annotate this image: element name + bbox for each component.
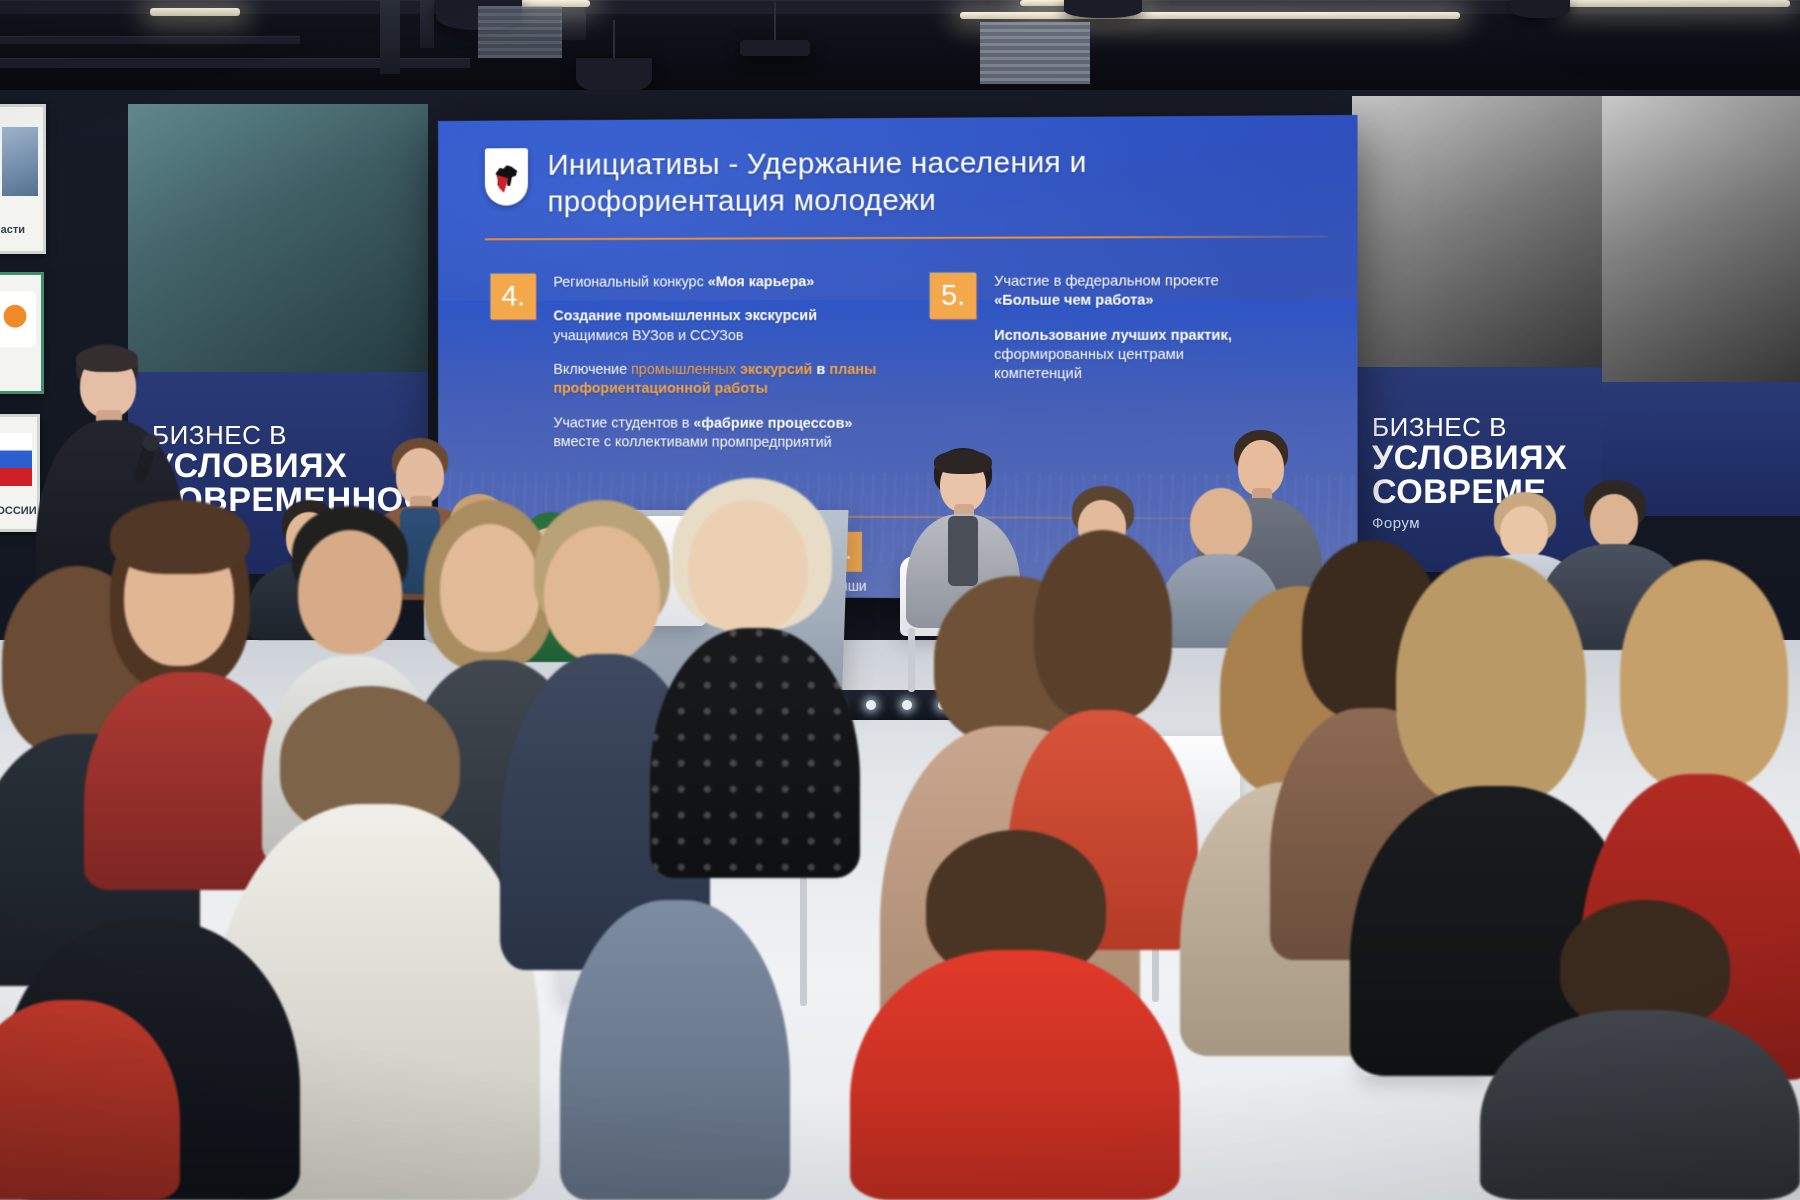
poster-image <box>2 127 39 196</box>
screenshot-root: асти РОССИИ БИЗНЕС В УСЛОВИЯХ СОВРЕМЕННО… <box>0 0 1800 1200</box>
audience-torso <box>0 1000 180 1200</box>
column-4-paragraph-2: Создание промышленных экскурсий учащимис… <box>553 307 878 346</box>
column-number-4: 4. <box>491 274 536 320</box>
run-text: учащимися ВУЗов и ССУЗов <box>553 328 743 344</box>
audience-torso <box>1480 1010 1800 1200</box>
audience-torso <box>850 950 1180 1200</box>
pendant-lamp <box>1510 0 1570 18</box>
audience-member-front <box>1480 900 1800 1200</box>
audience-head-bald <box>1190 488 1252 558</box>
floor-light-dot <box>866 700 876 710</box>
poster-caption: РОССИИ <box>0 505 33 518</box>
banner-far-right <box>1602 96 1800 516</box>
audience-member-front <box>650 478 860 878</box>
run-text: Участие в федеральном проекте <box>994 273 1219 290</box>
audience-hair <box>1620 560 1788 790</box>
pendant-lamp <box>1064 0 1142 18</box>
ceiling-light <box>960 12 1460 19</box>
audience-head <box>1590 494 1638 548</box>
slide-title-line1: Инициативы - Удержание населения и <box>548 145 1087 184</box>
column-5-paragraph-2: Использование лучших практик, сформирова… <box>994 326 1263 384</box>
slide-header: Инициативы - Удержание населения и профо… <box>485 144 1317 221</box>
audience-member-front <box>0 1000 180 1200</box>
panelist-hair-front <box>934 450 992 474</box>
pendant-lamp <box>576 58 652 94</box>
slide-columns: 4. Региональный конкурс «Моя карьера» Со… <box>485 272 1317 454</box>
ceiling-light <box>1560 0 1790 7</box>
slide-content: Инициативы - Удержание населения и профо… <box>438 115 1357 454</box>
run-text: Включение <box>553 362 631 378</box>
audience-hair <box>1396 556 1586 806</box>
run-text: Использование лучших практик, <box>994 327 1232 343</box>
slide-column-4: 4. Региональный конкурс «Моя карьера» Со… <box>491 273 878 453</box>
run-text: промышленных <box>631 362 740 378</box>
column-4-paragraph-1: Региональный конкурс «Моя карьера» <box>553 273 878 293</box>
slide-title-line2: профориентация молодежи <box>548 182 1087 221</box>
audience-hair <box>1034 530 1172 720</box>
column-4-body: Региональный конкурс «Моя карьера» Созда… <box>553 273 878 453</box>
run-text: экскурсий <box>740 362 813 378</box>
run-text: Региональный конкурс <box>553 275 707 291</box>
banner-right-line2: УСЛОВИЯХ <box>1372 441 1592 476</box>
column-number-5: 5. <box>930 273 976 319</box>
run-text: в <box>813 362 830 378</box>
ceiling-duct <box>380 0 400 74</box>
audience-head <box>298 530 402 654</box>
column-5-paragraph-1: Участие в федеральном проекте «Больше че… <box>994 272 1263 311</box>
poster-image <box>0 433 32 487</box>
audience-torso <box>560 900 790 1200</box>
slide-title: Инициативы - Удержание населения и профо… <box>548 145 1087 221</box>
speaker-hair-front <box>76 346 138 372</box>
run-text: «Больше чем работа» <box>994 293 1153 309</box>
banner-right-line1: БИЗНЕС В <box>1372 414 1592 441</box>
audience-head <box>544 526 660 662</box>
column-5-body: Участие в федеральном проекте «Больше че… <box>994 272 1263 454</box>
banner-left-photo <box>128 104 428 372</box>
coat-of-arms-icon <box>485 148 528 206</box>
run-text: Создание промышленных экскурсий <box>553 309 817 325</box>
audience-member-front <box>560 900 790 1200</box>
ceiling-beam <box>0 36 300 44</box>
window-blinds <box>980 22 1090 84</box>
banner-right-photo <box>1352 96 1602 367</box>
poster-image <box>0 291 36 347</box>
run-text: сформированных центрами компетенций <box>994 347 1184 382</box>
window-blinds <box>478 6 562 58</box>
pendant-lamp <box>740 40 810 56</box>
run-text: вместе с коллективами промпредприятий <box>553 434 831 451</box>
title-divider <box>485 236 1328 241</box>
audience-member-front <box>850 830 1180 1200</box>
column-4-paragraph-4: Участие студентов в «фабрике процессов» … <box>553 414 878 453</box>
column-4-paragraph-3: Включение промышленных экскурсий в планы… <box>553 361 878 400</box>
run-text: Участие студентов в <box>553 415 693 431</box>
run-text: «Моя карьера» <box>708 274 815 290</box>
poster-caption: асти <box>1 224 40 237</box>
audience-head <box>688 500 808 634</box>
audience-lace-pattern <box>650 628 860 878</box>
banner-far-right-photo <box>1602 96 1800 382</box>
ceiling-duct <box>420 0 434 48</box>
ceiling-light <box>150 8 240 16</box>
slide-column-5: 5. Участие в федеральном проекте «Больше… <box>930 272 1263 454</box>
run-text: «фабрике процессов» <box>694 415 853 431</box>
poster-1: асти <box>0 104 46 254</box>
audience-hair-front <box>110 500 250 574</box>
